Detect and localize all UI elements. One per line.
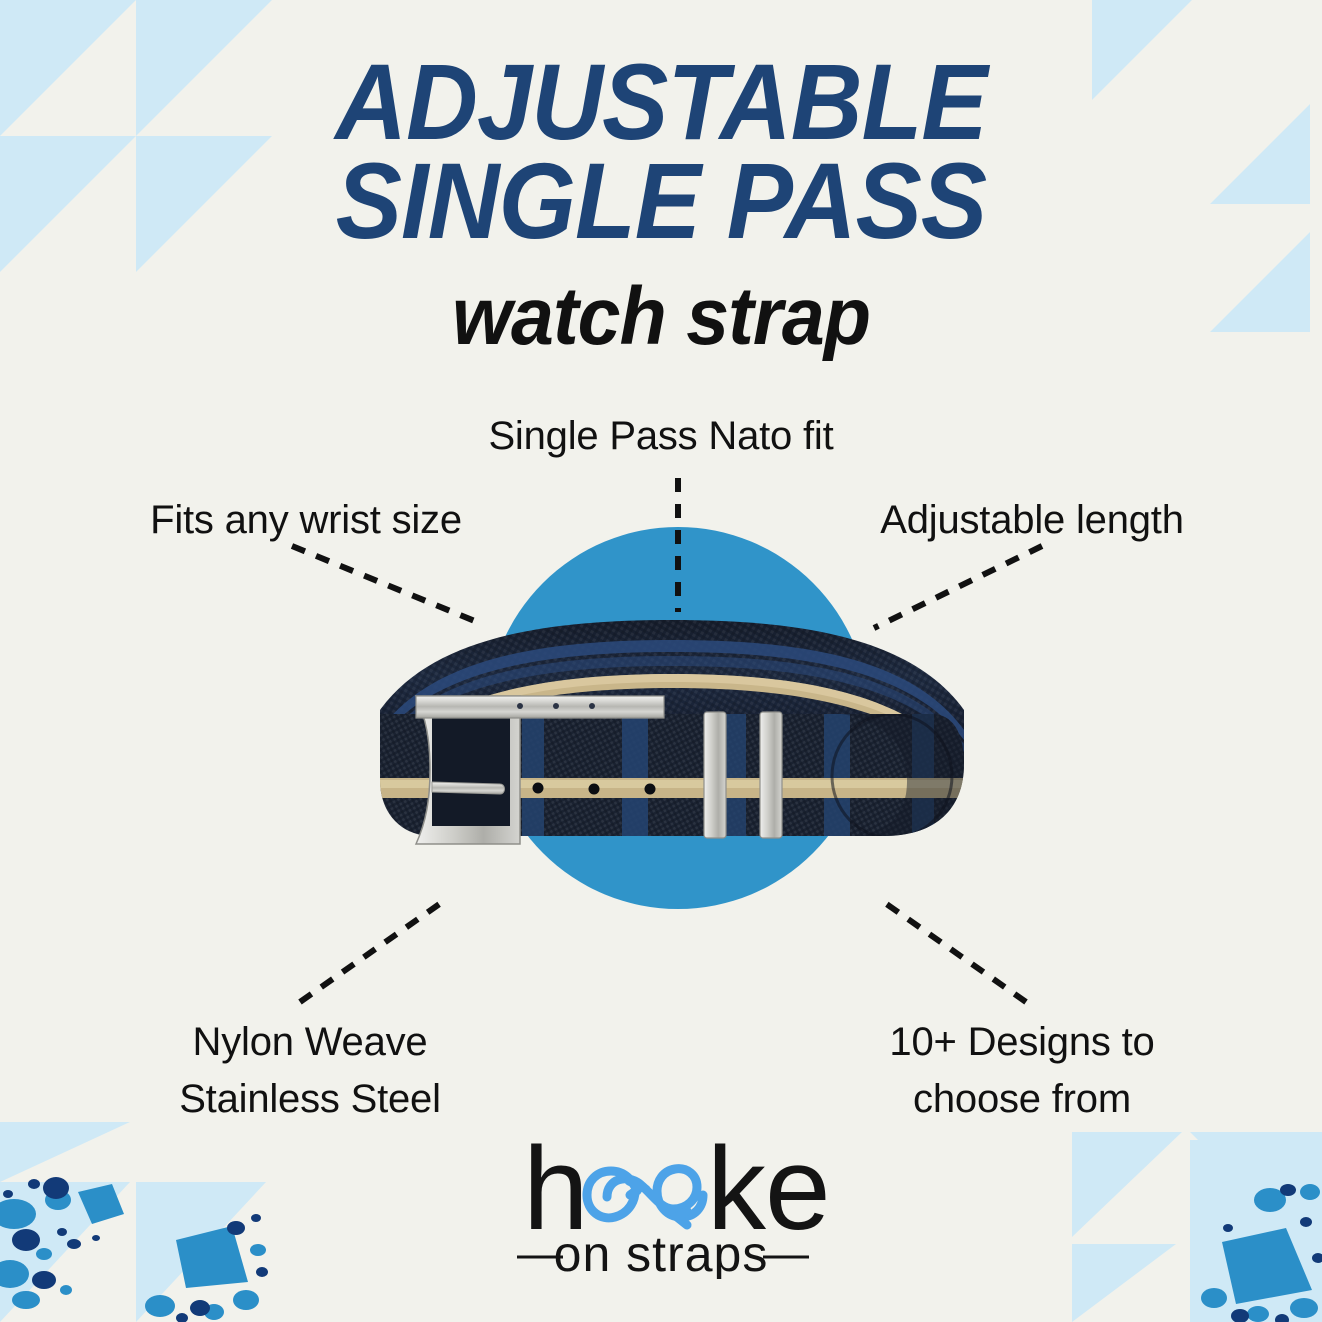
product-image-watch-strap [372, 614, 972, 914]
infographic-poster: ADJUSTABLE SINGLE PASS watch strap [0, 0, 1322, 1322]
annotation-nylon-weave-stainless-steel: Nylon Weave Stainless Steel [90, 1014, 530, 1128]
page-title: ADJUSTABLE SINGLE PASS [0, 52, 1322, 251]
leader-line-fits-any-wrist-size [292, 546, 482, 624]
annotation-designs-to-choose-from: 10+ Designs to choose from [802, 1014, 1242, 1128]
brand-logo[interactable]: h ked on straps [0, 1129, 1322, 1284]
annotation-fits-any-wrist-size: Fits any wrist size [56, 492, 556, 549]
logo-tagline: on straps [554, 1226, 769, 1279]
annotation-adjustable-length: Adjustable length [782, 492, 1282, 549]
headline-line-1: ADJUSTABLE [53, 52, 1269, 151]
brand-logo-mark: h ked on straps [491, 1129, 831, 1279]
page-subtitle: watch strap [40, 276, 1283, 358]
headline-line-2: SINGLE PASS [53, 151, 1269, 250]
infinity-hook-icon [587, 1169, 703, 1225]
annotation-single-pass-nato-fit: Single Pass Nato fit [0, 408, 1322, 465]
